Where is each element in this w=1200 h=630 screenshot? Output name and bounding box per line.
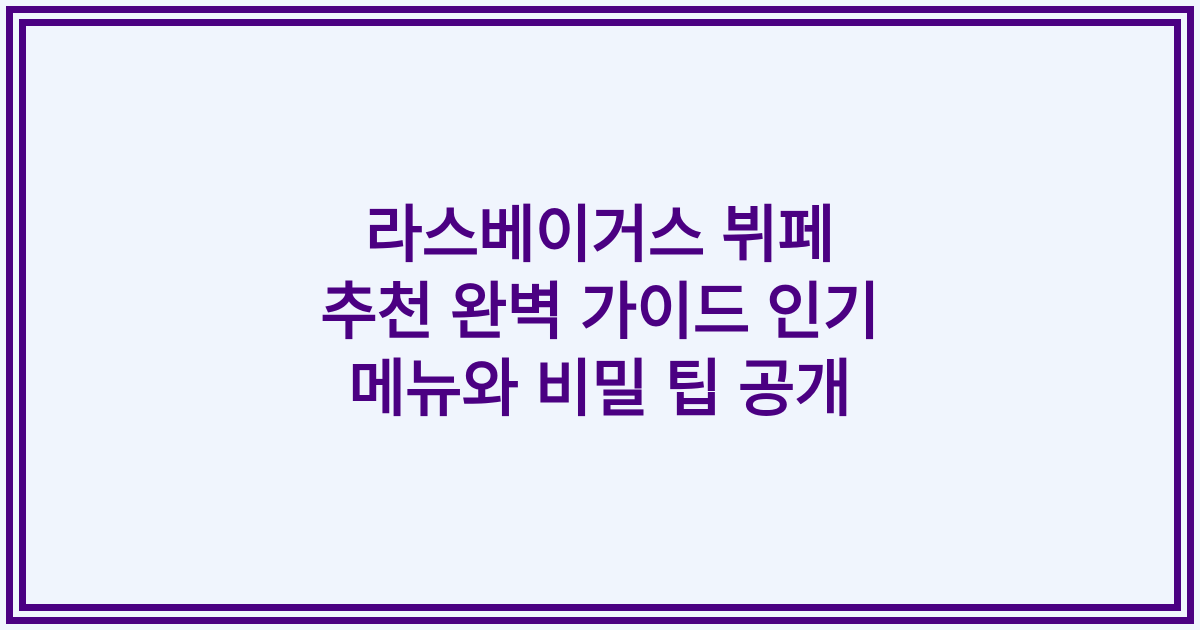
title-line-1: 라스베이거스 뷔페 <box>150 197 1050 274</box>
thumbnail-card: 라스베이거스 뷔페 추천 완벽 가이드 인기 메뉴와 비밀 팁 공개 <box>0 0 1200 630</box>
title-line-2: 추천 완벽 가이드 인기 <box>150 274 1050 351</box>
title-line-3: 메뉴와 비밀 팁 공개 <box>150 351 1050 428</box>
page-title: 라스베이거스 뷔페 추천 완벽 가이드 인기 메뉴와 비밀 팁 공개 <box>150 197 1050 434</box>
